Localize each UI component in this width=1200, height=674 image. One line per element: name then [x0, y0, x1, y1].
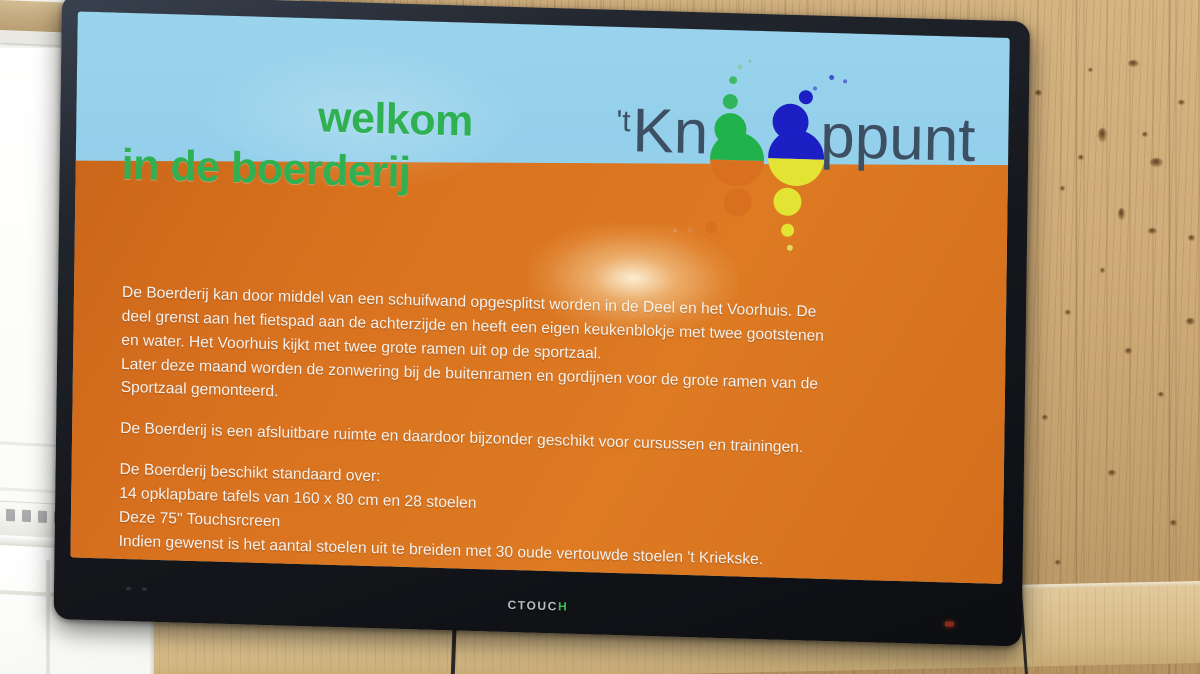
brand-text: CTOUCH: [507, 598, 568, 614]
knooppunt-logo: 'tKnppunt: [615, 47, 997, 238]
wood-knot: [1035, 90, 1042, 96]
wood-knot: [1108, 470, 1116, 476]
body-line: De Boerderij beschikt standaard over:: [119, 461, 380, 485]
wood-knot: [1186, 318, 1195, 325]
wood-knot: [1188, 235, 1195, 241]
wood-knot: [1158, 392, 1164, 397]
wood-knot: [1142, 132, 1148, 137]
wood-knot: [1150, 158, 1163, 167]
wood-knot: [1060, 186, 1065, 191]
body-line: Sportzaal gemonteerd.: [121, 379, 279, 400]
wood-knot: [1148, 228, 1157, 234]
wood-knot: [1042, 415, 1048, 420]
ctouch-display[interactable]: welkom in de boerderij: [54, 0, 1030, 647]
body-line: 14 opklapbare tafels van 160 x 80 cm en …: [119, 485, 476, 512]
logo-dot-orange: [673, 228, 677, 232]
power-led-indicator: [945, 621, 954, 626]
presentation-slide: welkom in de boerderij: [70, 11, 1009, 584]
wood-knot: [1128, 60, 1139, 67]
wood-knot: [1125, 348, 1132, 354]
wood-knot: [1170, 520, 1177, 526]
body-paragraph: De Boerderij is een afsluitbare ruimte e…: [120, 417, 978, 465]
logo-wordmark: 'tKnppunt: [616, 95, 997, 196]
window-mullion: [46, 560, 50, 674]
logo-dot-blue: [813, 86, 817, 90]
body-line: Deze 75" Touchsrcreen: [119, 509, 281, 531]
logo-dot-blue: [843, 79, 847, 83]
wood-knot: [1100, 268, 1105, 273]
logo-circle-orange: [723, 188, 751, 217]
wood-plank-seam: [1075, 0, 1078, 674]
wood-plank-seam: [1168, 0, 1171, 674]
wood-knot: [1065, 310, 1071, 315]
wood-knot: [1078, 155, 1084, 160]
wood-knot: [1178, 100, 1185, 105]
logo-dot-green: [748, 60, 751, 63]
logo-dot-green: [729, 76, 737, 84]
logo-dot-green: [737, 64, 742, 69]
wood-knot: [1055, 560, 1061, 565]
logo-prefix: Kn: [632, 96, 709, 167]
logo-suffix: ppunt: [820, 102, 976, 175]
logo-dot-yellow: [781, 224, 794, 237]
logo-dot-blue: [829, 75, 834, 80]
logo-circle-yellow: [773, 187, 801, 216]
page-title: welkom in de boerderij: [121, 86, 622, 207]
wood-knot: [1098, 128, 1107, 142]
logo-dot-orange: [687, 227, 693, 233]
logo-apostrophe: 't: [616, 105, 631, 138]
display-screen[interactable]: welkom in de boerderij: [70, 11, 1009, 584]
slide-body-text: De Boerderij kan door middel van een sch…: [118, 281, 980, 578]
body-paragraph: De Boerderij kan door middel van een sch…: [121, 281, 981, 425]
wood-knot: [1118, 208, 1125, 220]
body-line: De Boerderij is een afsluitbare ruimte e…: [120, 420, 803, 456]
wood-knot: [1088, 68, 1093, 72]
logo-dot-yellow: [787, 245, 793, 251]
logo-dot-orange: [705, 221, 717, 233]
